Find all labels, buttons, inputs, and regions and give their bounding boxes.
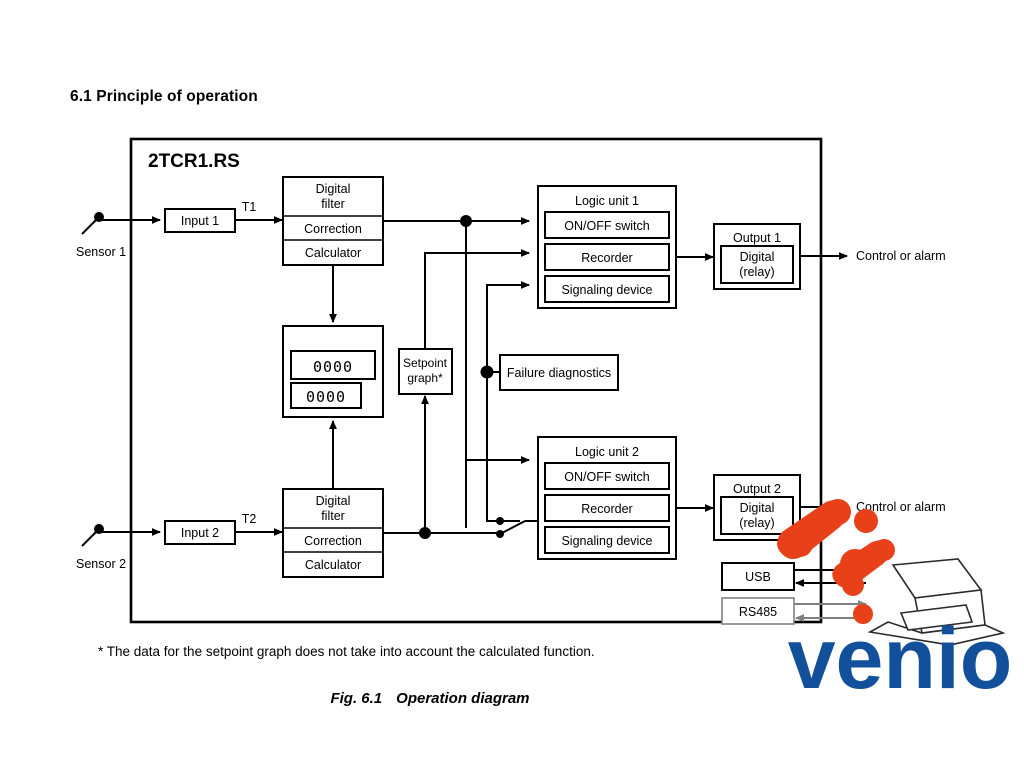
logic-unit-1-title: Logic unit 1 [575, 194, 639, 208]
processing-block-1: Digital filter Correction Calculator [283, 177, 383, 265]
output-1-block: Output 1 Digital (relay) [714, 224, 800, 289]
rs485-label: RS485 [739, 605, 777, 619]
setpoint-graph-block: Setpoint graph* [399, 349, 452, 394]
junction-t2 [419, 527, 431, 539]
logic-1-row-onoff: ON/OFF switch [564, 219, 649, 233]
digital-filter-line2: filter [321, 197, 345, 211]
sensor-1-label: Sensor 1 [76, 245, 126, 259]
output-2-title: Output 2 [733, 482, 781, 496]
digital-filter-2-line2: filter [321, 509, 345, 523]
indication-block: 0000 0000 [283, 326, 383, 417]
figure-caption: Fig. 6.1Operation diagram [0, 690, 860, 707]
correction-row-2: Correction [304, 534, 362, 548]
figure-number: Fig. 6.1 [330, 690, 382, 707]
indication-display-bottom: 0000 [306, 388, 346, 406]
input-1-label: Input 1 [181, 214, 219, 228]
setpoint-graph-line1: Setpoint [403, 356, 448, 370]
logic-unit-1: Logic unit 1 ON/OFF switch Recorder Sign… [538, 186, 676, 308]
page-root: 6.1 Principle of operation 2TCR1.RS Sens… [0, 0, 1024, 768]
logic-1-row-signaling: Signaling device [561, 283, 652, 297]
output-1-destination-label: Control or alarm [856, 249, 946, 263]
calculator-row-2: Calculator [305, 558, 361, 572]
logic-2-row-signaling: Signaling device [561, 534, 652, 548]
calculator-row-1: Calculator [305, 246, 361, 260]
footnote-text: * The data for the setpoint graph does n… [98, 644, 595, 659]
sensor-2-label: Sensor 2 [76, 557, 126, 571]
logic-unit-2: Logic unit 2 ON/OFF switch Recorder Sign… [538, 437, 676, 559]
output-1-title: Output 1 [733, 231, 781, 245]
signal-t1-label: T1 [242, 200, 257, 214]
signal-t2-label: T2 [242, 512, 257, 526]
output-2-type-line1: Digital [740, 501, 775, 515]
logic-1-row-recorder: Recorder [581, 251, 632, 265]
sensor-2-symbol [82, 524, 104, 546]
failure-diagnostics-label: Failure diagnostics [507, 366, 611, 380]
digital-filter-2-line1: Digital [316, 494, 351, 508]
digital-filter-line1: Digital [316, 182, 351, 196]
input-2-label: Input 2 [181, 526, 219, 540]
setpoint-graph-line2: graph* [407, 371, 443, 385]
figure-caption-text: Operation diagram [396, 690, 529, 707]
indication-display-top: 0000 [313, 358, 353, 376]
logic-2-row-recorder: Recorder [581, 502, 632, 516]
correction-row-1: Correction [304, 222, 362, 236]
usb-label: USB [745, 570, 771, 584]
processing-block-2: Digital filter Correction Calculator [283, 489, 383, 577]
logic-2-row-onoff: ON/OFF switch [564, 470, 649, 484]
device-label: 2TCR1.RS [148, 151, 240, 172]
output-1-type-line2: (relay) [739, 265, 774, 279]
logic-unit-2-title: Logic unit 2 [575, 445, 639, 459]
output-2-type-line2: (relay) [739, 516, 774, 530]
sensor-1-symbol [82, 212, 104, 234]
output-1-type-line1: Digital [740, 250, 775, 264]
